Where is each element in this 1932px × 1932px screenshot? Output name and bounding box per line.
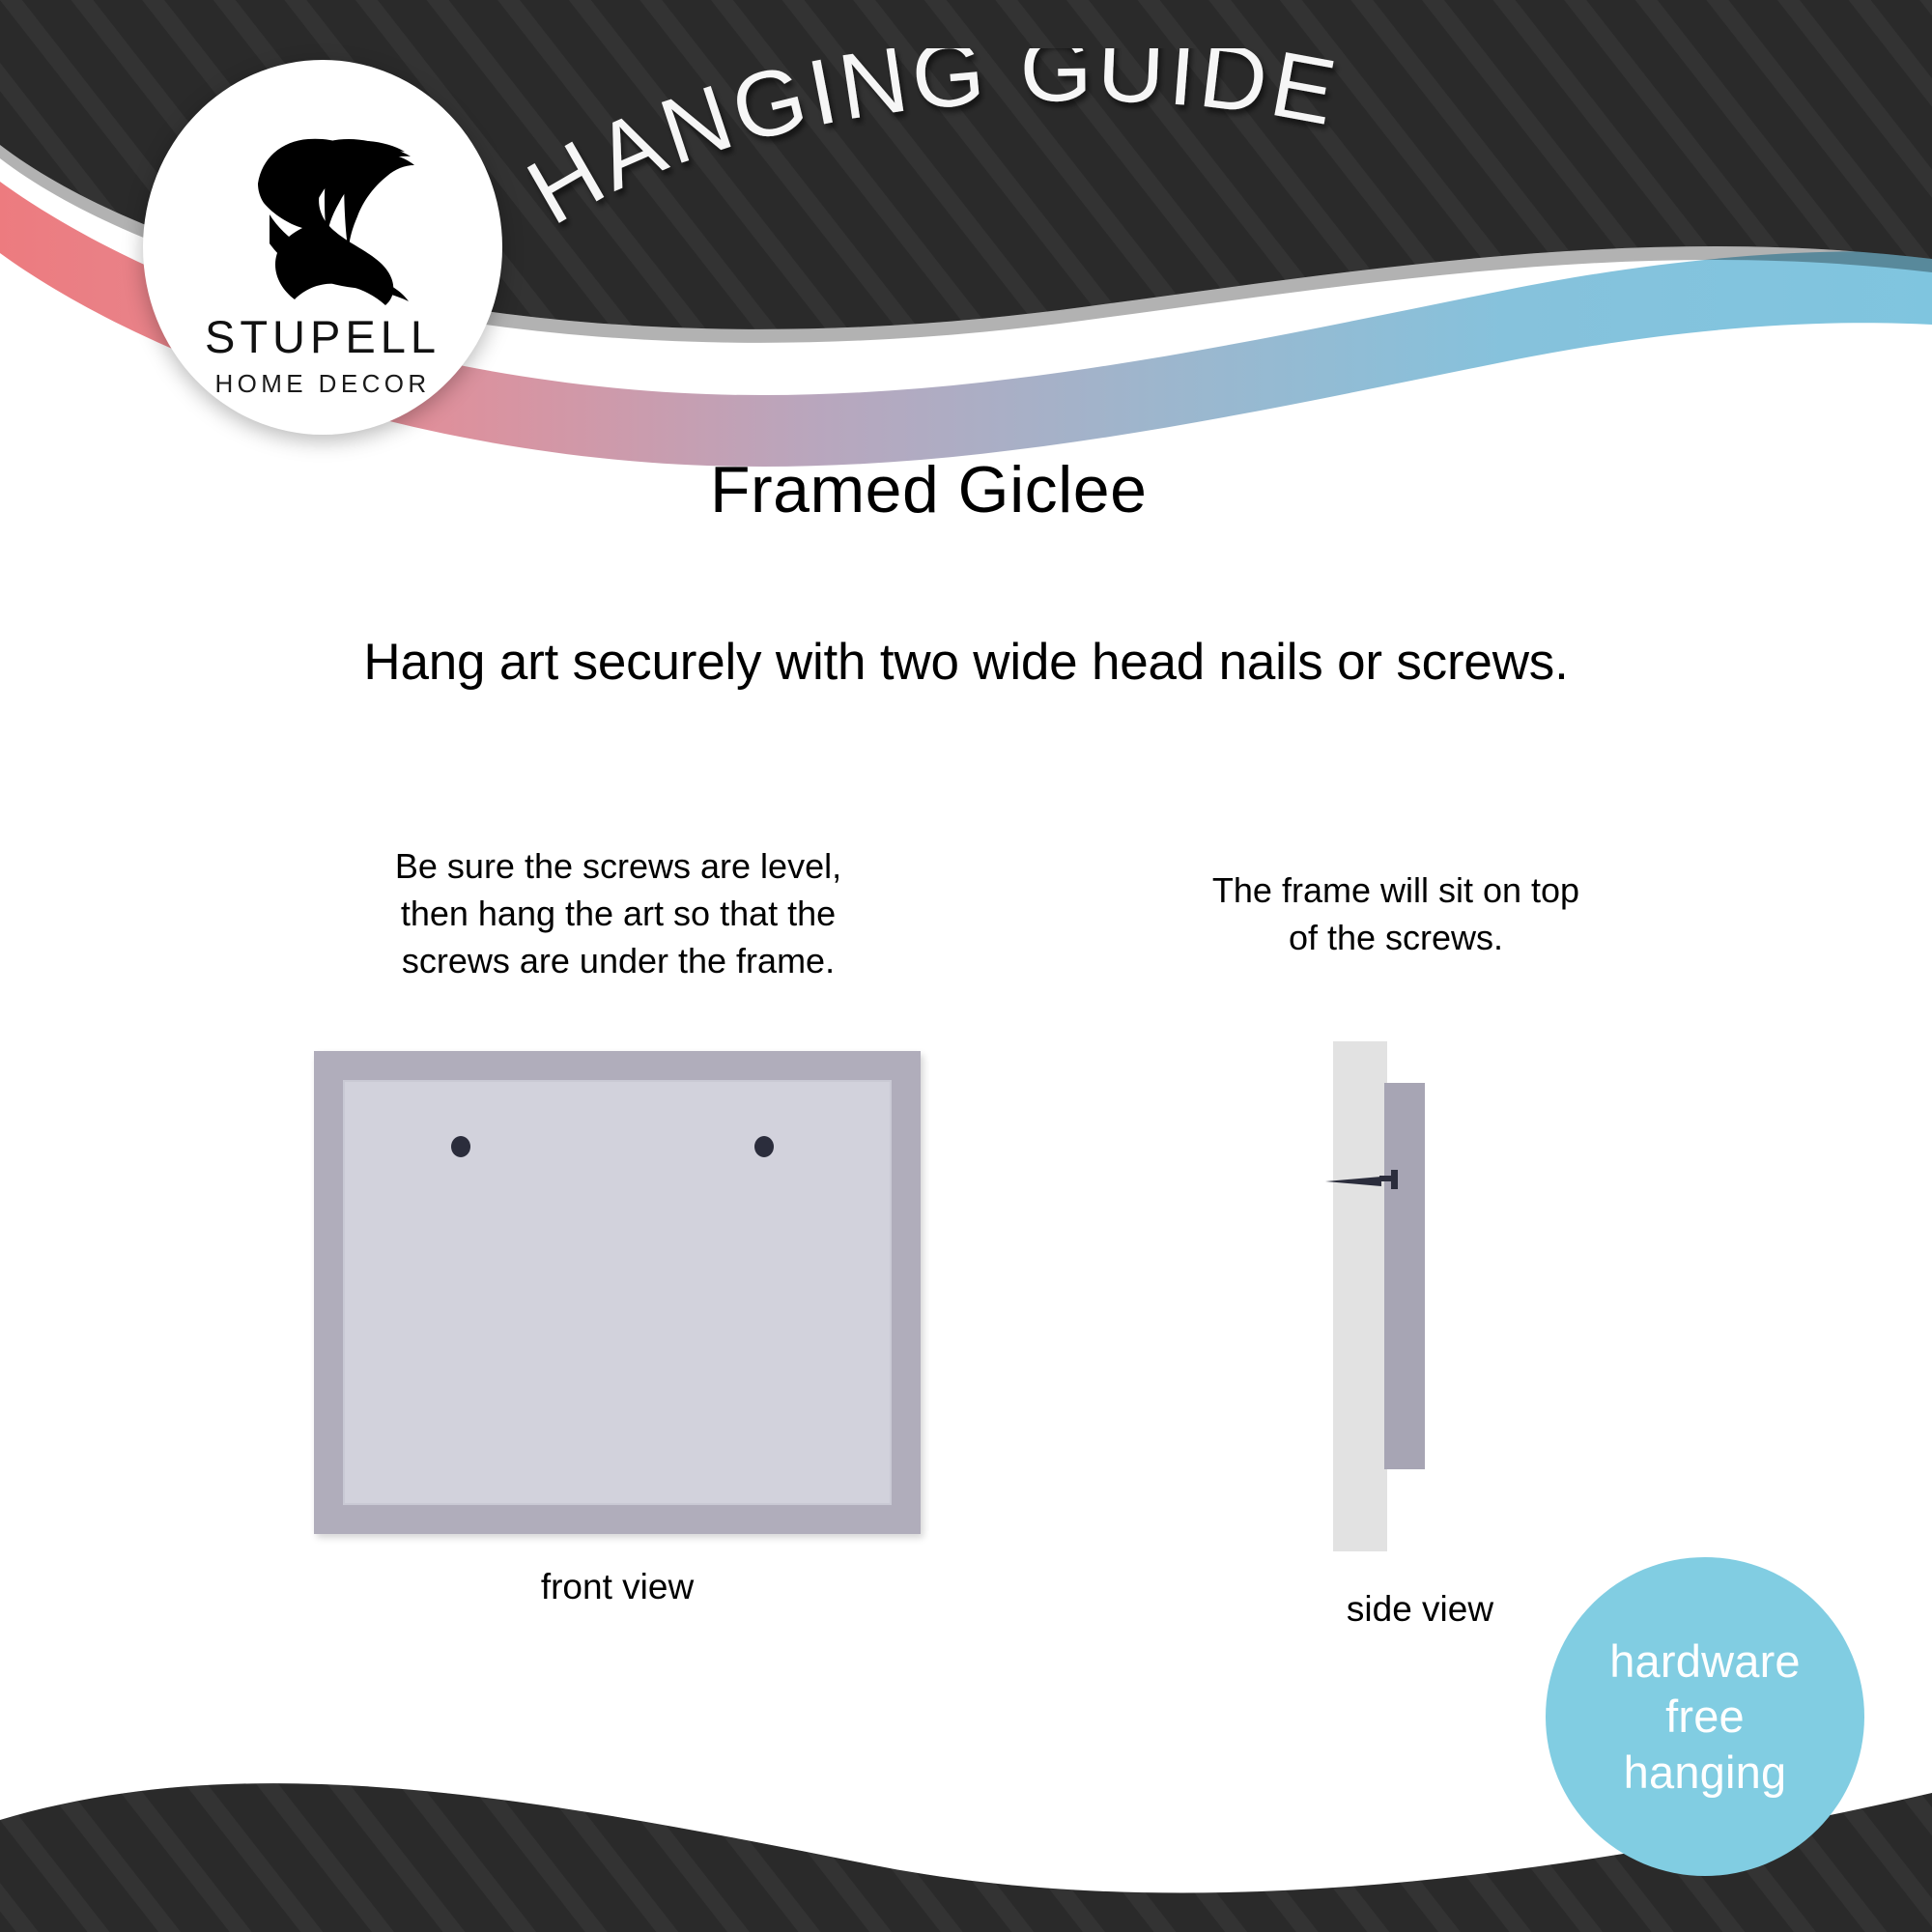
brand-tagline: HOME DECOR (214, 371, 430, 396)
screw-hole-left-icon (451, 1136, 470, 1157)
side-view-frame (1384, 1083, 1425, 1469)
front-view-art-area (343, 1080, 892, 1505)
side-view-wall (1333, 1041, 1387, 1551)
product-type-label: Framed Giclee (710, 452, 1147, 527)
svg-text:HANGING GUIDE: HANGING GUIDE (522, 48, 1347, 244)
side-caption-line-1: The frame will sit on top (1116, 867, 1676, 915)
side-view-diagram (1333, 1041, 1507, 1551)
stupell-swoosh-logo-icon (231, 100, 414, 308)
front-caption-line-1: Be sure the screws are level, (290, 843, 947, 891)
front-caption-line-2: then hang the art so that the (290, 891, 947, 938)
side-view-caption: The frame will sit on top of the screws. (1116, 867, 1676, 962)
side-view-label: side view (1246, 1589, 1594, 1630)
hanging-guide-page: STUPELL HOME DECOR HANGING GUIDE Framed … (0, 0, 1932, 1932)
badge-line-1: hardware (1609, 1634, 1801, 1689)
screw-hole-right-icon (754, 1136, 774, 1157)
nail-icon (1323, 1169, 1410, 1194)
main-instruction-text: Hang art securely with two wide head nai… (0, 633, 1932, 692)
side-caption-line-2: of the screws. (1116, 915, 1676, 962)
front-caption-line-3: screws are under the frame. (290, 938, 947, 985)
brand-logo-badge: STUPELL HOME DECOR (143, 60, 502, 435)
front-view-label: front view (314, 1567, 921, 1607)
page-title-text: HANGING GUIDE (522, 48, 1347, 244)
front-view-diagram (314, 1051, 921, 1534)
front-view-caption: Be sure the screws are level, then hang … (290, 843, 947, 985)
badge-line-3: hanging (1624, 1745, 1787, 1800)
brand-name: STUPELL (205, 314, 440, 359)
badge-line-2: free (1665, 1689, 1745, 1744)
page-title: HANGING GUIDE (522, 48, 1391, 270)
hardware-free-hanging-badge: hardware free hanging (1546, 1557, 1864, 1876)
